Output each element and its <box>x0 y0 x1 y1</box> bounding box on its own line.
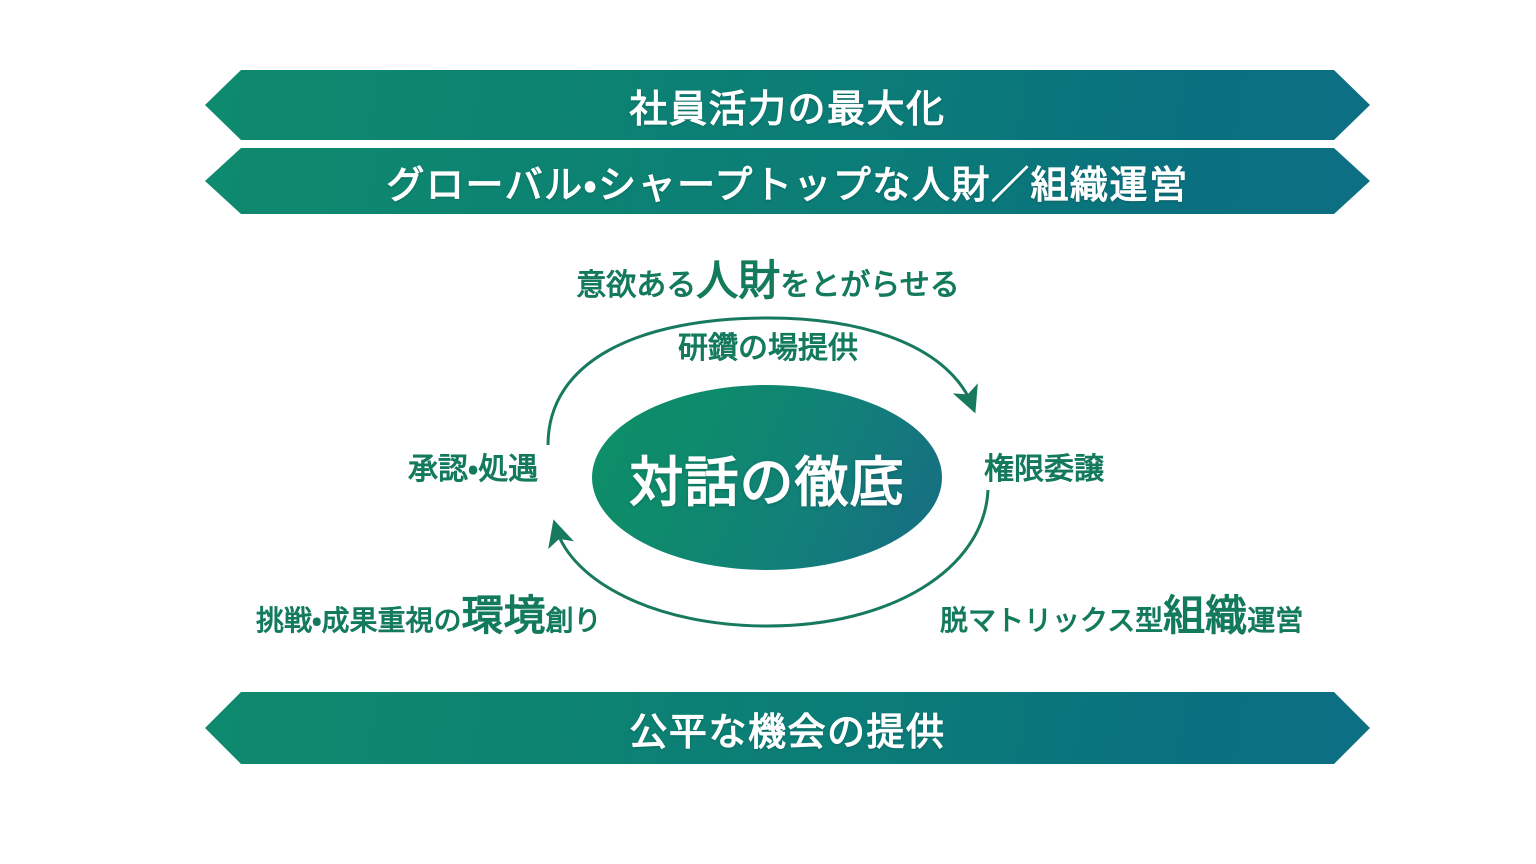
banner-second: グローバル・シャープトップな人財／組織運営 <box>205 148 1370 214</box>
banner-bottom: 公平な機会の提供 <box>205 692 1370 764</box>
label-environment-creation: 挑戦・成果重視の環境創り <box>256 595 602 637</box>
label-motivated-talent-emphasis: 人財 <box>696 257 780 304</box>
banner-bottom-label: 公平な機会の提供 <box>629 701 945 756</box>
label-environment-creation-emphasis: 環境 <box>462 592 546 639</box>
label-motivated-talent: 意欲ある人財をとがらせる <box>576 260 959 302</box>
label-recognition-treatment: 承認・処遇 <box>408 455 538 485</box>
label-delegation-of-authority: 権限委譲 <box>984 455 1104 485</box>
center-ellipse-label: 対話の徹底 <box>629 438 904 517</box>
label-environment-creation-pre: 挑戦・成果重視の <box>256 605 462 636</box>
label-training-opportunities: 研鑽の場提供 <box>678 334 858 364</box>
banner-top: 社員活力の最大化 <box>205 70 1370 140</box>
center-ellipse: 対話の徹底 <box>592 385 942 570</box>
cycle-diagram: 意欲ある人財をとがらせる 研鑽の場提供 承認・処遇 権限委譲 挑戦・成果重視の環… <box>0 240 1536 660</box>
slide-canvas: 社員活力の最大化 グローバル・シャープトップな人財／組織運営 意欲ある人財をとが… <box>0 0 1536 864</box>
label-non-matrix-organization-emphasis: 組織 <box>1163 592 1247 639</box>
label-non-matrix-organization-pre: 脱マトリックス型 <box>940 605 1163 636</box>
label-motivated-talent-pre: 意欲ある <box>576 269 696 302</box>
label-non-matrix-organization-post: 運営 <box>1247 605 1303 636</box>
label-environment-creation-post: 創り <box>546 605 602 636</box>
label-motivated-talent-post: をとがらせる <box>780 269 959 302</box>
banner-top-label: 社員活力の最大化 <box>629 78 945 133</box>
label-non-matrix-organization: 脱マトリックス型組織運営 <box>940 595 1303 637</box>
banner-second-label: グローバル・シャープトップな人財／組織運営 <box>386 154 1188 209</box>
